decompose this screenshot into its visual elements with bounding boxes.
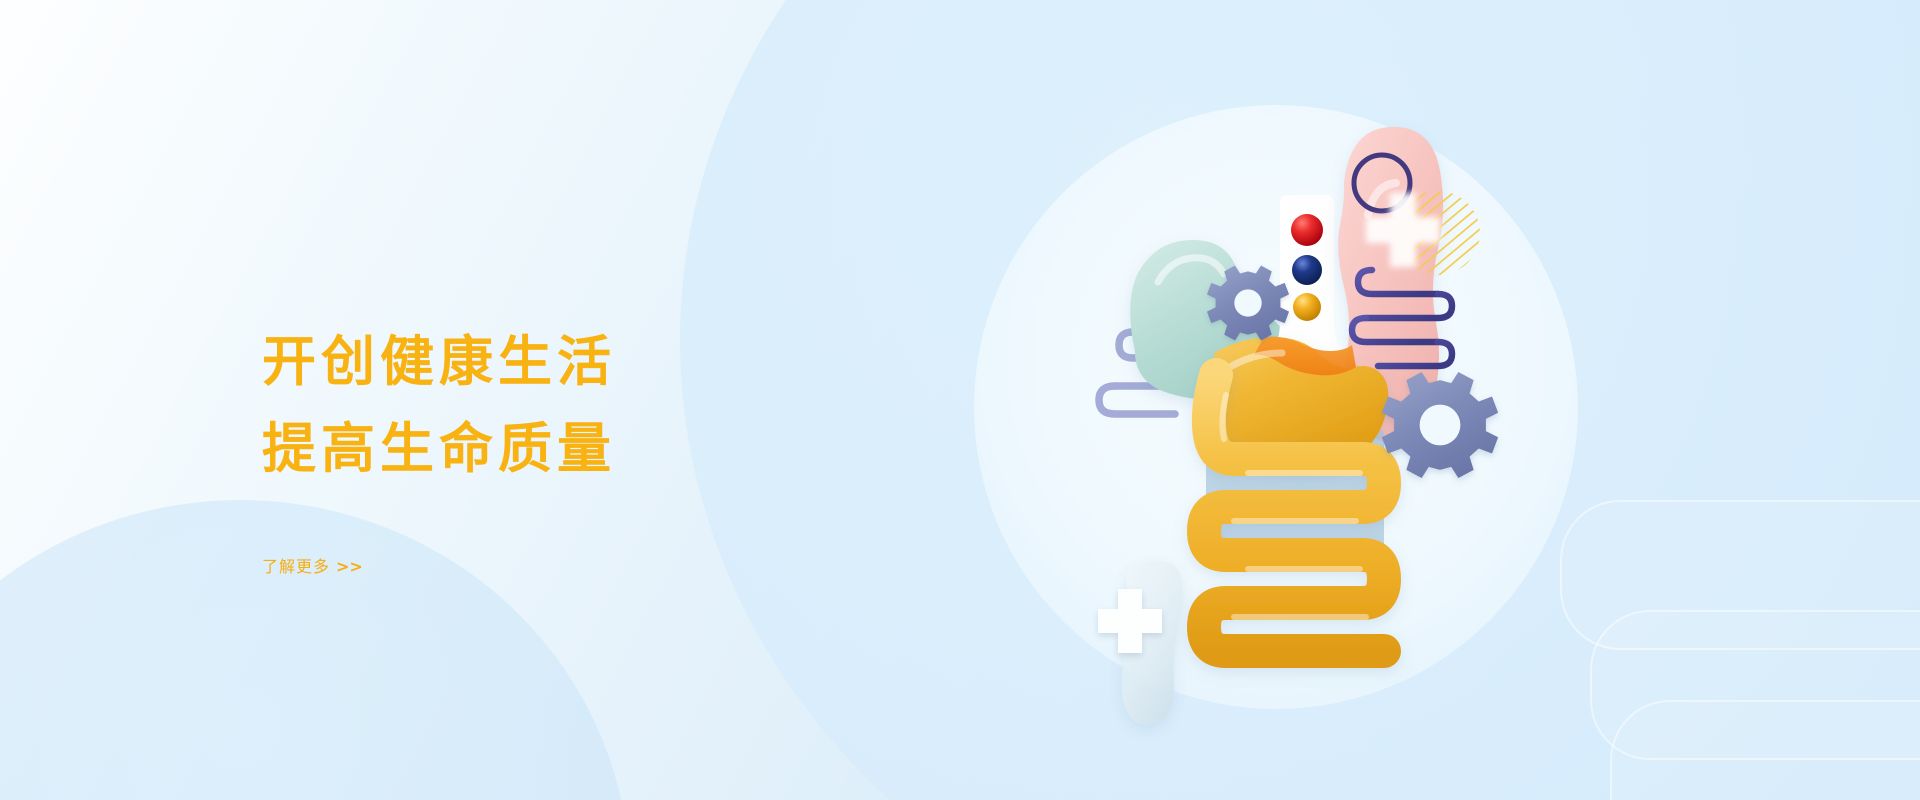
- learn-more-link[interactable]: 了解更多>>: [262, 553, 363, 577]
- background-rounded-rect-3: [1610, 700, 1920, 800]
- learn-more-label: 了解更多: [262, 557, 330, 576]
- digestive-system-illustration: [930, 55, 1630, 795]
- pill-dot-gold: [1293, 293, 1321, 321]
- pill-dot-navy: [1292, 255, 1322, 285]
- health-hero-banner: 开创健康生活 提高生命质量 了解更多>>: [0, 0, 1920, 800]
- chevron-right-icon: >>: [336, 557, 363, 576]
- headline-line-2: 提高生命质量: [262, 405, 902, 492]
- banner-copy: 开创健康生活 提高生命质量 了解更多>>: [262, 318, 902, 577]
- pill-dot-red: [1291, 214, 1323, 246]
- background-rounded-rect-2: [1590, 610, 1920, 760]
- headline-line-1: 开创健康生活: [262, 318, 902, 405]
